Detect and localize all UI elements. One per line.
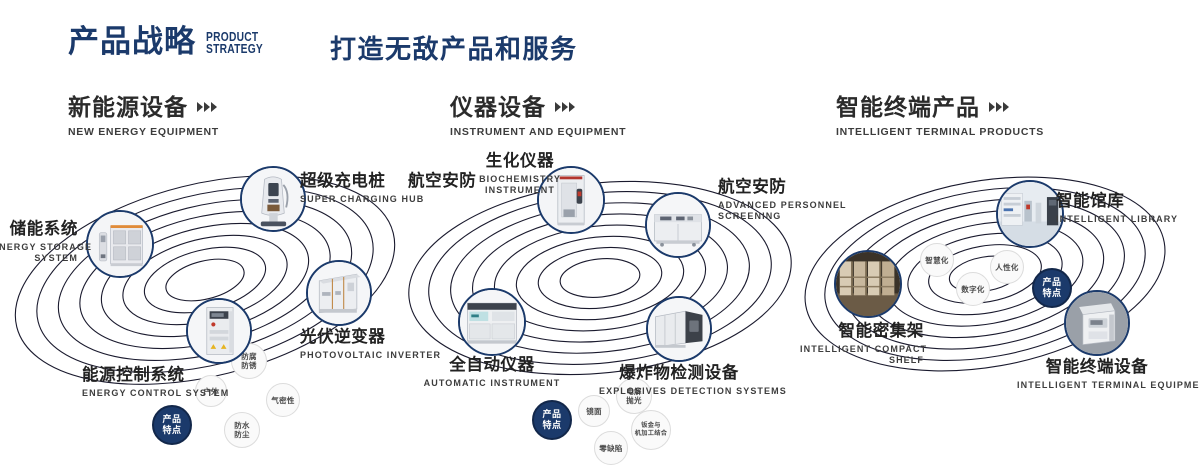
section-heading-terminal: 智能终端产品 INTELLIGENT TERMINAL PRODUCTS: [836, 96, 1044, 138]
product-node-smart-terminal[interactable]: [1064, 290, 1130, 356]
feature-bubble-sheetmetal-machining: 钣金与 机加工结合: [631, 410, 671, 450]
page-title: 产品战略 PRODUCT STRATEGY: [68, 26, 276, 57]
chevron-right-icon: [197, 102, 217, 112]
feature-bubble-mirror: 镜面: [578, 395, 610, 427]
feature-bubble-airtight: 气密性: [266, 383, 300, 417]
screening-machine-photo: [647, 194, 709, 256]
product-label-smart-terminal: 智能终端设备 INTELLIGENT TERMINAL EQUIPMENT: [1017, 358, 1177, 391]
product-node-super-charging-hub[interactable]: [240, 166, 306, 232]
title-cn: 产品战略: [68, 26, 196, 57]
section-heading-new-energy: 新能源设备 NEW ENERGY EQUIPMENT: [68, 96, 219, 138]
product-node-personnel-screening[interactable]: [645, 192, 711, 258]
cluster-intelligent-terminal-products: 智慧化 数字化 人性化 产品 特点: [800, 150, 1200, 390]
product-node-compact-shelf[interactable]: [834, 250, 902, 318]
feature-bubble-zero-defect: 零缺陷: [594, 431, 628, 465]
smart-library-photo: [998, 182, 1062, 246]
section-title-cn: 智能终端产品: [836, 96, 980, 119]
product-label-explosives-detection: 爆炸物检测设备 EXPLOSIVES DETECTION SYSTEMS: [599, 364, 759, 397]
chevron-right-icon: [555, 102, 575, 112]
page-subtitle: 打造无敌产品和服务: [330, 36, 578, 62]
feature-bubble-humanized: 人性化: [990, 250, 1024, 284]
chevron-right-icon: [989, 102, 1009, 112]
feature-core-bubble: 产品 特点: [152, 405, 192, 445]
title-en-line2: STRATEGY: [206, 44, 263, 56]
charging-pile-photo: [242, 168, 304, 230]
section-heading-instrument: 仪器设备 INSTRUMENT AND EQUIPMENT: [450, 96, 626, 138]
smart-terminal-photo: [1066, 292, 1128, 354]
feature-core-bubble: 产品 特点: [532, 400, 572, 440]
explosives-detector-photo: [648, 298, 710, 360]
core-line2: 特点: [162, 425, 181, 436]
product-node-smart-library[interactable]: [996, 180, 1064, 248]
core-line1: 产品: [162, 414, 181, 425]
product-node-automatic-instrument[interactable]: [458, 288, 526, 356]
pv-inverter-photo: [308, 262, 370, 324]
product-label-biochemistry-instrument: 生化仪器 BIOCHEMISTRY INSTRUMENT: [460, 152, 580, 196]
battery-cabinet-photo: [88, 212, 152, 276]
feature-bubble-digital: 数字化: [956, 272, 990, 306]
product-label-energy-control: 能源控制系统 ENERGY CONTROL SYSTEM: [82, 366, 229, 399]
feature-bubble-smart: 智慧化: [920, 243, 954, 277]
cluster-instrument-and-equipment: 航空安防 产品 特点 镜面 电解 抛光 零缺陷 钣金与 机加工结合: [400, 150, 820, 390]
section-title-en: NEW ENERGY EQUIPMENT: [68, 126, 219, 138]
product-node-energy-storage[interactable]: [86, 210, 154, 278]
product-label-automatic-instrument: 全自动仪器 AUTOMATIC INSTRUMENT: [422, 356, 562, 389]
product-label-smart-library: 智能馆库 INTELLIGENT LIBRARY: [1056, 192, 1178, 225]
title-en: PRODUCT STRATEGY: [206, 32, 263, 55]
automatic-instrument-photo: [460, 290, 524, 354]
cluster-new-energy-equipment: 产品 特点 户外 防腐 防锈 防水 防尘 气密性: [0, 150, 420, 390]
section-title-en: INSTRUMENT AND EQUIPMENT: [450, 126, 626, 138]
product-label-compact-shelf: 智能密集架 INTELLIGENT COMPACT SHELF: [800, 322, 924, 366]
feature-bubble-waterproof: 防水 防尘: [224, 412, 260, 448]
section-title-en: INTELLIGENT TERMINAL PRODUCTS: [836, 126, 1044, 138]
section-title-cn: 仪器设备: [450, 96, 546, 119]
product-node-explosives-detection[interactable]: [646, 296, 712, 362]
section-title-cn: 新能源设备: [68, 96, 188, 119]
product-node-pv-inverter[interactable]: [306, 260, 372, 326]
compact-shelf-photo: [836, 252, 900, 316]
product-node-energy-control[interactable]: [186, 298, 252, 364]
control-cabinet-photo: [188, 300, 250, 362]
product-label-energy-storage: 储能系统 ENERGY STORAGE SYSTEM: [0, 220, 78, 264]
poster-canvas: 产品战略 PRODUCT STRATEGY 打造无敌产品和服务 新能源设备 NE…: [0, 0, 1200, 422]
